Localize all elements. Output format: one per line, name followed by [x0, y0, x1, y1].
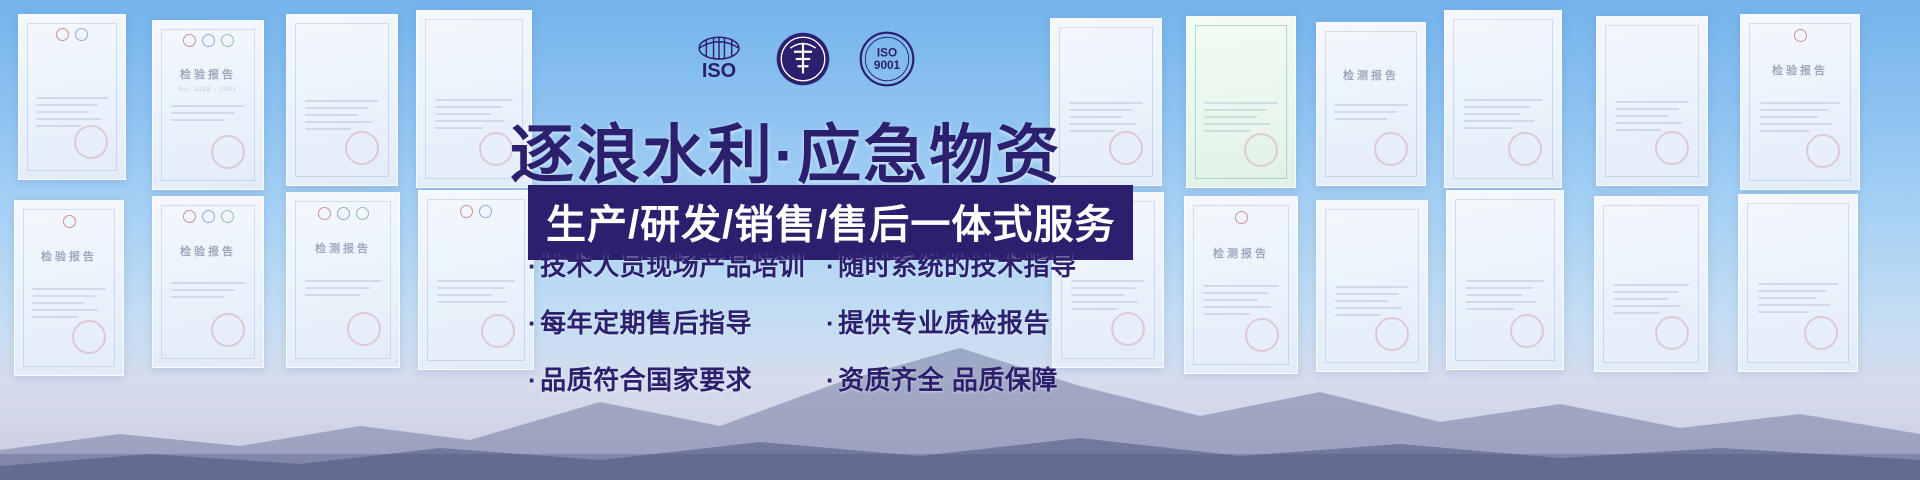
- feature-item: ·资质齐全 品质保障: [826, 360, 1076, 397]
- bullet-marker: ·: [826, 308, 835, 338]
- feature-label: 品质符合国家要求: [540, 365, 752, 395]
- banner-content: 逐浪水利·应急物资 生产/研发/销售/售后一体式服务 ·技术人员现场产品培训 ·…: [0, 0, 1920, 480]
- feature-item: ·技术人员现场产品培训: [528, 246, 808, 283]
- bullet-marker: ·: [528, 251, 537, 281]
- feature-label: 每年定期售后指导: [540, 308, 752, 338]
- bullet-marker: ·: [826, 365, 835, 395]
- promo-banner: 检验报告 No. 2018 - 0081: [0, 0, 1920, 480]
- feature-item: ·随时系统的技术指导: [826, 246, 1076, 283]
- feature-label: 技术人员现场产品培训: [540, 251, 805, 281]
- bullet-marker: ·: [826, 251, 835, 281]
- feature-item: ·品质符合国家要求: [528, 360, 808, 397]
- feature-item: ·提供专业质检报告: [826, 303, 1076, 340]
- feature-label: 随时系统的技术指导: [838, 251, 1077, 281]
- feature-label: 资质齐全 品质保障: [838, 365, 1058, 395]
- bullet-marker: ·: [528, 308, 537, 338]
- bullet-marker: ·: [528, 365, 537, 395]
- feature-label: 提供专业质检报告: [838, 308, 1050, 338]
- feature-list: ·技术人员现场产品培训 ·随时系统的技术指导 ·每年定期售后指导 ·提供专业质检…: [528, 246, 1076, 397]
- feature-item: ·每年定期售后指导: [528, 303, 808, 340]
- banner-title: 逐浪水利·应急物资: [510, 104, 1061, 196]
